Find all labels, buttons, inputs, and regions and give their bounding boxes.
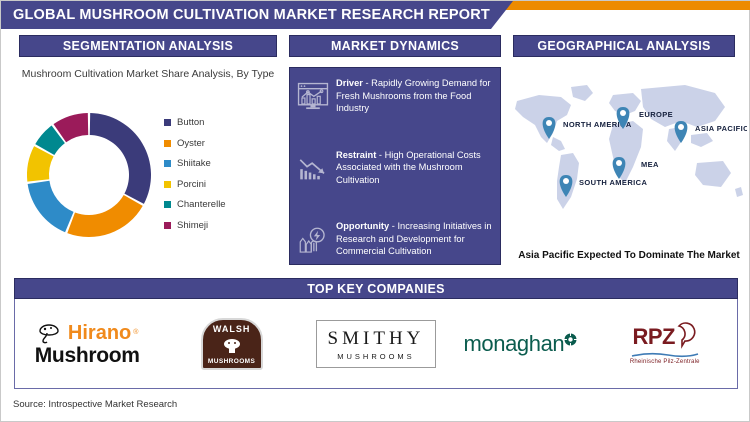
dynamics-item-restraint: Restraint - High Operational Costs Assoc… bbox=[296, 149, 492, 187]
map-region-label: ASIA PACIFIC bbox=[695, 124, 747, 133]
legend-swatch-icon bbox=[164, 222, 171, 229]
company-logo-row: Hirano ® Mushroom WALSH MUSHROOMS SMITHY bbox=[14, 299, 738, 389]
market-dynamics-heading-label: MARKET DYNAMICS bbox=[331, 39, 459, 53]
market-share-donut-chart bbox=[23, 109, 155, 241]
hirano-registered-mark: ® bbox=[133, 329, 138, 336]
legend-label: Button bbox=[177, 117, 204, 128]
location-pin-hole bbox=[620, 110, 626, 116]
chart-legend: ButtonOysterShiitakePorciniChanterelleSh… bbox=[164, 117, 226, 231]
legend-label: Shimeji bbox=[177, 220, 208, 231]
report-title-banner: GLOBAL MUSHROOM CULTIVATION MARKET RESEA… bbox=[1, 1, 513, 29]
monaghan-word: monaghan bbox=[463, 331, 564, 357]
donut-slice-button bbox=[90, 113, 151, 204]
legend-swatch-icon bbox=[164, 140, 171, 147]
donut-slice-shiitake bbox=[28, 181, 74, 232]
legend-item-button: Button bbox=[164, 117, 226, 128]
walsh-word-2: MUSHROOMS bbox=[208, 358, 255, 365]
dynamics-item-opportunity: Opportunity - Increasing Initiatives in … bbox=[296, 220, 492, 258]
segmentation-heading-label: SEGMENTATION ANALYSIS bbox=[63, 39, 233, 53]
map-region-label: MEA bbox=[641, 160, 659, 169]
legend-swatch-icon bbox=[164, 201, 171, 208]
map-region-label: SOUTH AMERICA bbox=[579, 178, 647, 187]
rpz-swoosh-icon bbox=[675, 322, 697, 352]
dynamics-restraint-text: Restraint - High Operational Costs Assoc… bbox=[336, 149, 492, 187]
legend-item-shiitake: Shiitake bbox=[164, 158, 226, 169]
legend-item-shimeji: Shimeji bbox=[164, 220, 226, 231]
map-region-label: EUROPE bbox=[639, 110, 673, 119]
rpz-wave-icon bbox=[630, 352, 700, 358]
company-logo-rpz: RPZ Rheinische Pilz-Zentrale bbox=[597, 307, 733, 381]
legend-item-chanterelle: Chanterelle bbox=[164, 199, 226, 210]
legend-item-oyster: Oyster bbox=[164, 138, 226, 149]
map-region-shape bbox=[641, 85, 725, 127]
browser-chart-icon bbox=[296, 81, 330, 115]
source-note: Source: Introspective Market Research bbox=[13, 399, 177, 410]
legend-swatch-icon bbox=[164, 160, 171, 167]
dynamics-opportunity-label: Opportunity bbox=[336, 221, 389, 231]
market-dynamics-panel: Driver - Rapidly Growing Demand for Fres… bbox=[289, 67, 501, 265]
monaghan-emblem-icon bbox=[564, 333, 577, 346]
dynamics-driver-text: Driver - Rapidly Growing Demand for Fres… bbox=[336, 77, 492, 115]
mushroom-icon bbox=[221, 338, 243, 354]
top-key-companies-heading: TOP KEY COMPANIES bbox=[14, 278, 738, 299]
world-map: NORTH AMERICAEUROPEASIA PACIFICMEASOUTH … bbox=[509, 71, 747, 226]
smithy-word-1: SMITHY bbox=[328, 328, 425, 350]
company-logo-walsh: WALSH MUSHROOMS bbox=[164, 307, 300, 381]
location-pin-hole bbox=[678, 124, 684, 130]
geographical-note: Asia Pacific Expected To Dominate The Ma… bbox=[509, 250, 749, 261]
map-region-shape bbox=[691, 133, 713, 147]
legend-swatch-icon bbox=[164, 119, 171, 126]
walsh-word-1: WALSH bbox=[213, 324, 251, 334]
company-logo-hirano: Hirano ® Mushroom bbox=[19, 307, 155, 381]
market-dynamics-heading: MARKET DYNAMICS bbox=[289, 35, 501, 57]
map-region-shape bbox=[551, 137, 565, 151]
location-pin-hole bbox=[616, 160, 622, 166]
legend-label: Oyster bbox=[177, 138, 205, 149]
donut-svg bbox=[23, 109, 155, 241]
rpz-word: RPZ bbox=[633, 324, 676, 350]
mushroom-icon bbox=[36, 322, 66, 344]
map-region-shape bbox=[609, 121, 643, 183]
location-pin-hole bbox=[546, 120, 552, 126]
map-region-shape bbox=[515, 95, 571, 143]
smithy-word-2: MUSHROOMS bbox=[337, 352, 414, 361]
hirano-word-1: Hirano bbox=[68, 323, 131, 343]
declining-bar-chart-icon bbox=[296, 153, 330, 187]
map-region-shape bbox=[571, 85, 593, 101]
orange-accent-bar bbox=[501, 1, 750, 10]
company-logo-monaghan: monaghan bbox=[452, 307, 588, 381]
legend-label: Shiitake bbox=[177, 158, 211, 169]
donut-slice-oyster bbox=[67, 195, 142, 237]
geographical-heading-label: GEOGRAPHICAL ANALYSIS bbox=[537, 39, 710, 53]
dynamics-opportunity-text: Opportunity - Increasing Initiatives in … bbox=[336, 220, 492, 258]
infographic-page: GLOBAL MUSHROOM CULTIVATION MARKET RESEA… bbox=[0, 0, 750, 422]
segmentation-subtitle: Mushroom Cultivation Market Share Analys… bbox=[19, 67, 277, 82]
top-key-companies-label: TOP KEY COMPANIES bbox=[307, 282, 445, 296]
map-region-shape bbox=[695, 161, 731, 187]
dynamics-restraint-label: Restraint bbox=[336, 150, 376, 160]
page-title: GLOBAL MUSHROOM CULTIVATION MARKET RESEA… bbox=[1, 7, 490, 23]
company-logo-smithy: SMITHY MUSHROOMS bbox=[308, 307, 444, 381]
lightbulb-hand-icon bbox=[296, 224, 330, 258]
legend-label: Chanterelle bbox=[177, 199, 226, 210]
map-landmass bbox=[515, 85, 743, 209]
geographical-heading: GEOGRAPHICAL ANALYSIS bbox=[513, 35, 735, 57]
legend-item-porcini: Porcini bbox=[164, 179, 226, 190]
dynamics-driver-label: Driver bbox=[336, 78, 363, 88]
map-region-shape bbox=[735, 187, 743, 197]
segmentation-heading: SEGMENTATION ANALYSIS bbox=[19, 35, 277, 57]
rpz-subtitle: Rheinische Pilz-Zentrale bbox=[630, 359, 700, 365]
legend-swatch-icon bbox=[164, 181, 171, 188]
map-pin-mea[interactable]: MEA bbox=[613, 157, 659, 179]
dynamics-item-driver: Driver - Rapidly Growing Demand for Fres… bbox=[296, 77, 492, 115]
hirano-word-2: Mushroom bbox=[35, 345, 140, 366]
legend-label: Porcini bbox=[177, 179, 206, 190]
location-pin-hole bbox=[563, 178, 569, 184]
